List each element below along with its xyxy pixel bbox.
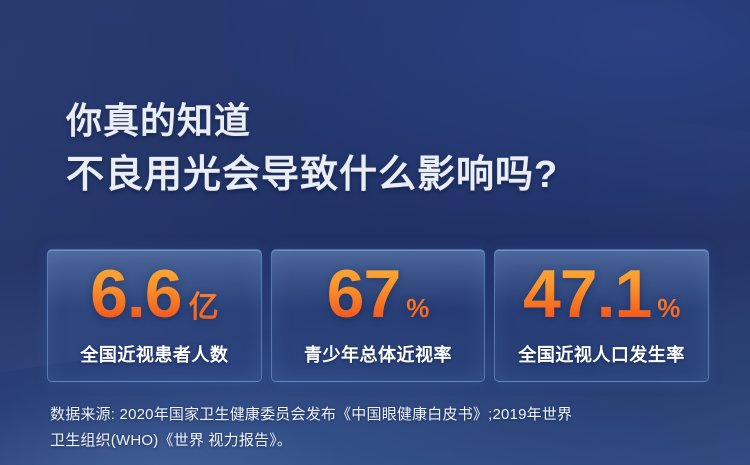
background-vignette [0, 0, 750, 465]
headline-line-2: 不良用光会导致什么影响吗? [66, 148, 558, 202]
stat-value: 6.6 [90, 258, 182, 330]
data-source-note: 数据来源: 2020年国家卫生健康委员会发布《中国眼健康白皮书》;2019年世界… [50, 402, 722, 454]
stat-card-national-myopia-incidence: 47.1 % 全国近视人口发生率 [494, 249, 709, 382]
page-title: 你真的知道 不良用光会导致什么影响吗? [66, 94, 558, 202]
stat-unit: 亿 [189, 272, 219, 344]
stat-card-youth-myopia-rate: 67 % 青少年总体近视率 [271, 249, 486, 382]
stat-value: 47.1 [523, 258, 651, 330]
stat-label: 全国近视人口发生率 [495, 341, 708, 367]
stat-value-row: 47.1 % [495, 258, 708, 330]
stat-value: 67 [327, 258, 401, 330]
stat-label: 全国近视患者人数 [48, 341, 261, 367]
stat-card-myopia-patients: 6.6 亿 全国近视患者人数 [47, 249, 262, 382]
stat-value-row: 6.6 亿 [48, 258, 261, 330]
stat-unit: % [406, 272, 429, 344]
source-line-1: 数据来源: 2020年国家卫生健康委员会发布《中国眼健康白皮书》;2019年世界 [50, 402, 722, 428]
stat-unit: % [657, 272, 680, 344]
stat-label: 青少年总体近视率 [272, 341, 485, 367]
stat-card-group: 6.6 亿 全国近视患者人数 67 % 青少年总体近视率 47.1 % 全国近视… [47, 249, 709, 382]
poster-canvas: 你真的知道 不良用光会导致什么影响吗? 6.6 亿 全国近视患者人数 67 % … [0, 0, 750, 465]
stat-value-row: 67 % [272, 258, 485, 330]
source-line-2: 卫生组织(WHO)《世界 视力报告》。 [50, 428, 722, 454]
headline-line-1: 你真的知道 [66, 94, 558, 148]
